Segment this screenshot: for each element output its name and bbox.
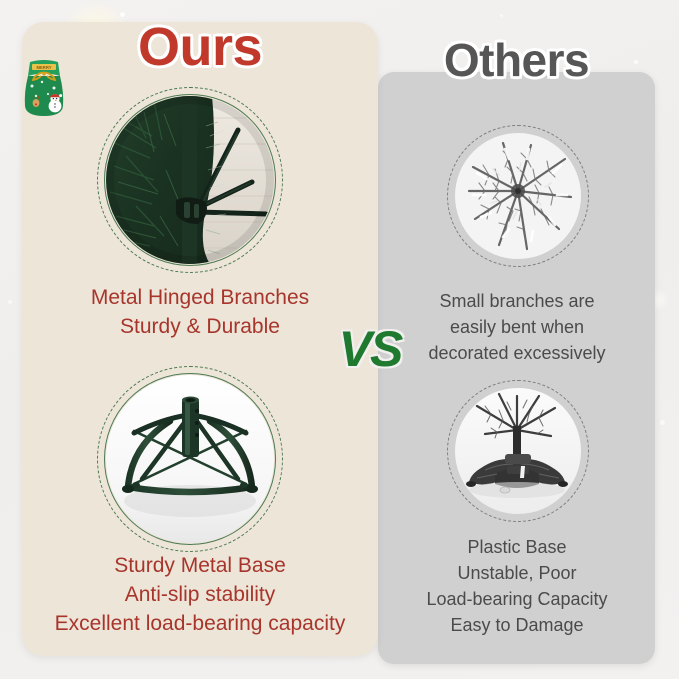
sparkle-fleck xyxy=(8,300,12,304)
ours-top-caption: Metal Hinged Branches Sturdy & Durable xyxy=(26,283,374,341)
thin-branch-tree-photo xyxy=(455,133,581,259)
svg-text:MERRY: MERRY xyxy=(37,65,52,70)
sparkle-fleck xyxy=(500,14,503,17)
christmas-gift-sack-snowman-icon: MERRY xyxy=(18,58,70,120)
others-title: Others xyxy=(378,33,655,87)
ours-bottom-caption: Sturdy Metal Base Anti-slip stability Ex… xyxy=(16,551,384,638)
metal-tree-stand-photo xyxy=(106,375,274,543)
plastic-tree-stand-photo xyxy=(455,388,581,514)
vs-badge-icon: VS xyxy=(334,318,406,380)
others-bottom-caption: Plastic Base Unstable, Poor Load-bearing… xyxy=(386,534,648,638)
others-top-caption: Small branches are easily bent when deco… xyxy=(386,288,648,366)
comparison-infographic: Ours Others MERRY xyxy=(0,0,679,679)
metal-hinged-branch-photo xyxy=(106,96,274,264)
sparkle-fleck xyxy=(660,420,665,425)
